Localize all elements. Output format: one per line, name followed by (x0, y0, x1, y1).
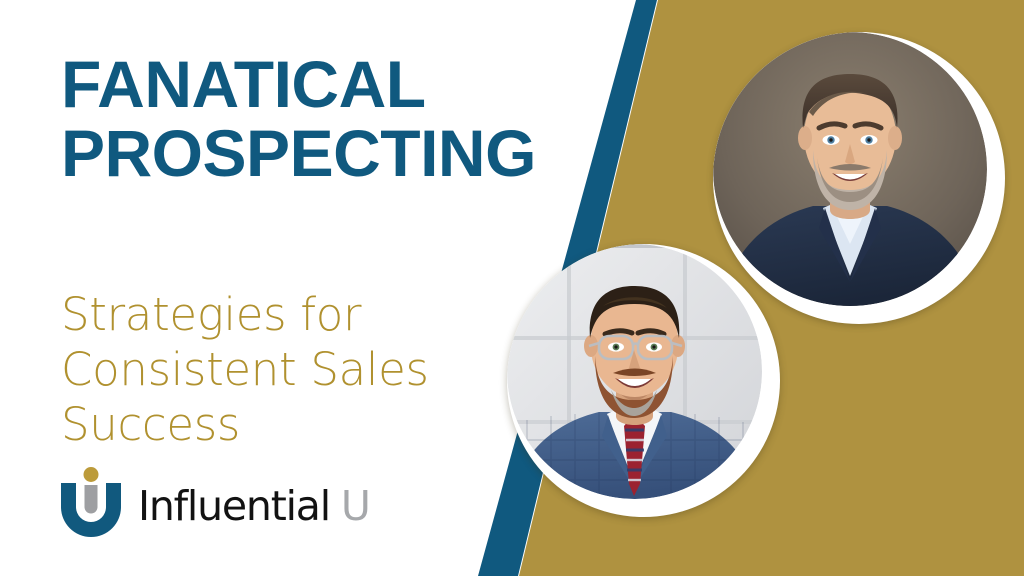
brand-logo-lockup: Influential U (58, 466, 370, 538)
influential-u-logo-mark-icon (58, 467, 124, 537)
speaker-portrait-top (713, 32, 1005, 324)
page-subtitle: Strategies for Consistent Sales Success (61, 288, 491, 453)
page-title: FANATICAL PROSPECTING (61, 50, 601, 187)
speaker-portrait-bottom-image (507, 244, 762, 499)
text-column: FANATICAL PROSPECTING Strategies for Con… (0, 0, 620, 576)
speaker-portrait-bottom-frame (507, 244, 780, 517)
speaker-portrait-bottom (507, 244, 780, 517)
wordmark-u: U (341, 486, 370, 527)
speaker-portrait-top-frame (713, 32, 1005, 324)
speaker-portrait-top-image (713, 32, 987, 306)
presentation-slide: FANATICAL PROSPECTING Strategies for Con… (0, 0, 1024, 576)
wordmark-influential: Influential (138, 486, 330, 527)
brand-wordmark: Influential U (138, 486, 370, 527)
